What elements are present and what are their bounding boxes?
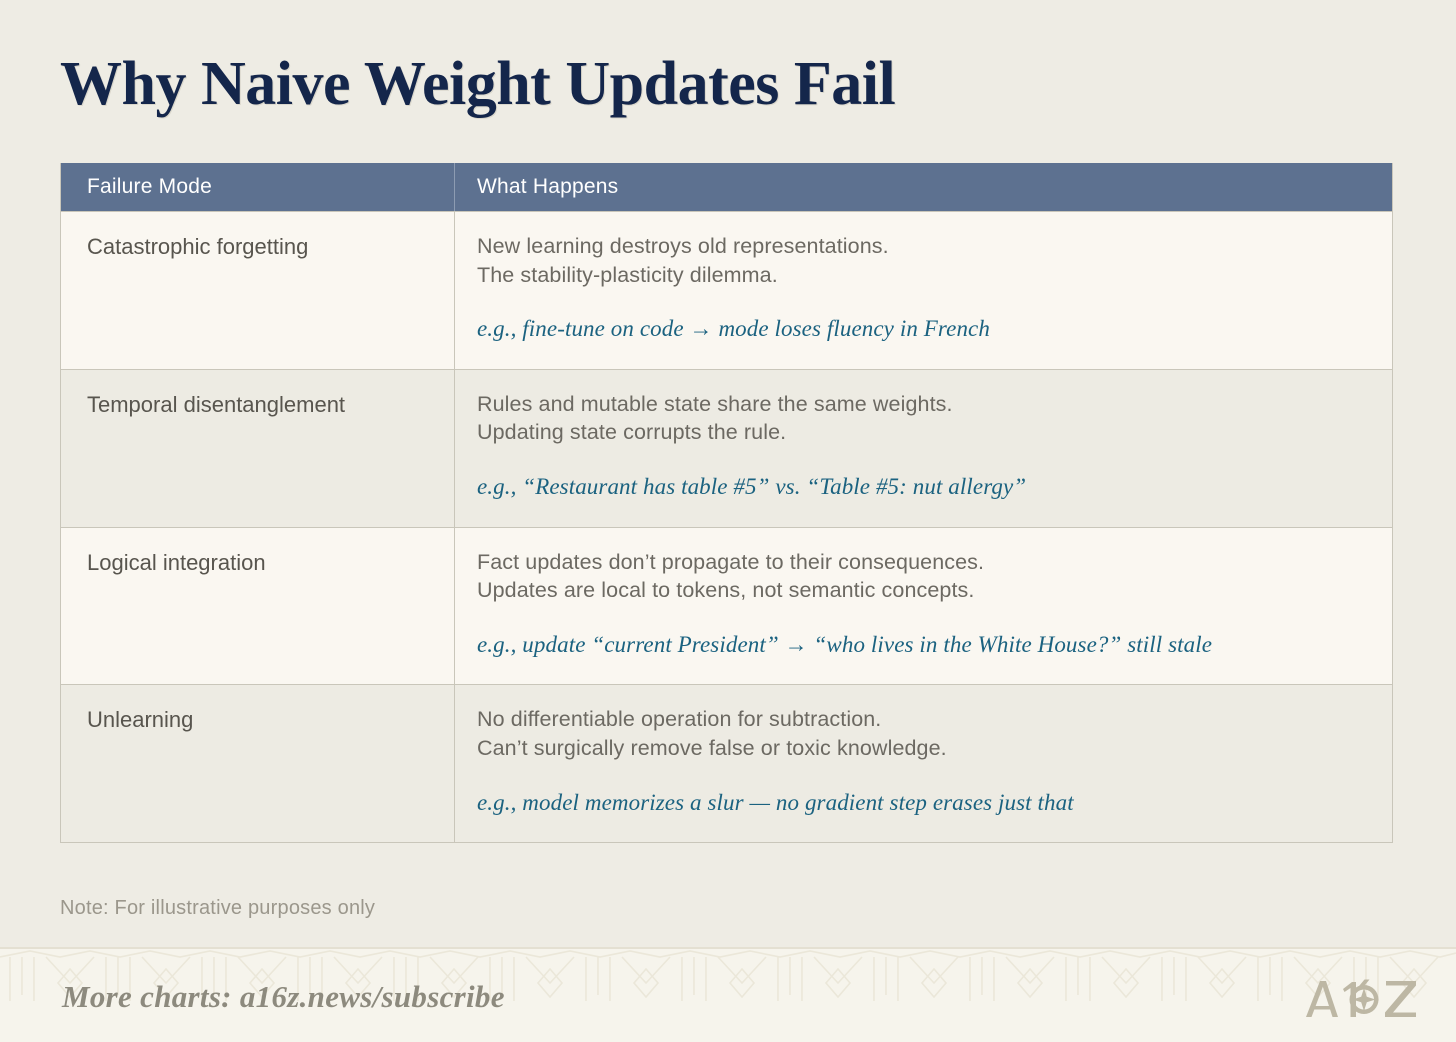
- table-row: Logical integration Fact updates don’t p…: [61, 527, 1392, 685]
- cell-what-happens: New learning destroys old representation…: [454, 212, 1392, 369]
- subscribe-cta[interactable]: More charts: a16z.news/subscribe: [62, 979, 505, 1015]
- cell-what-happens: Fact updates don’t propagate to their co…: [454, 528, 1392, 685]
- example-text: e.g., “Restaurant has table #5” vs. “Tab…: [477, 473, 1368, 501]
- a16z-logo-icon[interactable]: [1302, 977, 1420, 1021]
- table-row: Catastrophic forgetting New learning des…: [61, 211, 1392, 369]
- cell-failure-mode: Unlearning: [61, 685, 454, 842]
- page-title: Why Naive Weight Updates Fail: [60, 52, 895, 117]
- cell-failure-mode: Catastrophic forgetting: [61, 212, 454, 369]
- what-happens-line: Fact updates don’t propagate to their co…: [477, 548, 1368, 577]
- what-happens-line: No differentiable operation for subtract…: [477, 705, 1368, 734]
- example-text: e.g., model memorizes a slur — no gradie…: [477, 789, 1368, 817]
- table-row: Unlearning No differentiable operation f…: [61, 684, 1392, 842]
- table-row: Temporal disentanglement Rules and mutab…: [61, 369, 1392, 527]
- cell-failure-mode: Temporal disentanglement: [61, 370, 454, 527]
- column-header-what-happens: What Happens: [454, 163, 1392, 211]
- what-happens-line: New learning destroys old representation…: [477, 232, 1368, 261]
- example-text: e.g., fine-tune on code → mode loses flu…: [477, 315, 1368, 343]
- what-happens-line: Rules and mutable state share the same w…: [477, 390, 1368, 419]
- table-header-row: Failure Mode What Happens: [61, 163, 1392, 211]
- cell-what-happens: Rules and mutable state share the same w…: [454, 370, 1392, 527]
- what-happens-line: Can’t surgically remove false or toxic k…: [477, 734, 1368, 763]
- failure-mode-table: Failure Mode What Happens Catastrophic f…: [60, 163, 1393, 843]
- cell-failure-mode: Logical integration: [61, 528, 454, 685]
- example-text: e.g., update “current President” → “who …: [477, 631, 1368, 659]
- what-happens-line: Updates are local to tokens, not semanti…: [477, 576, 1368, 605]
- cell-what-happens: No differentiable operation for subtract…: [454, 685, 1392, 842]
- what-happens-line: The stability-plasticity dilemma.: [477, 261, 1368, 290]
- what-happens-line: Updating state corrupts the rule.: [477, 418, 1368, 447]
- footer-bar: More charts: a16z.news/subscribe: [0, 947, 1456, 1042]
- illustrative-note: Note: For illustrative purposes only: [60, 897, 375, 920]
- column-header-failure-mode: Failure Mode: [61, 175, 454, 199]
